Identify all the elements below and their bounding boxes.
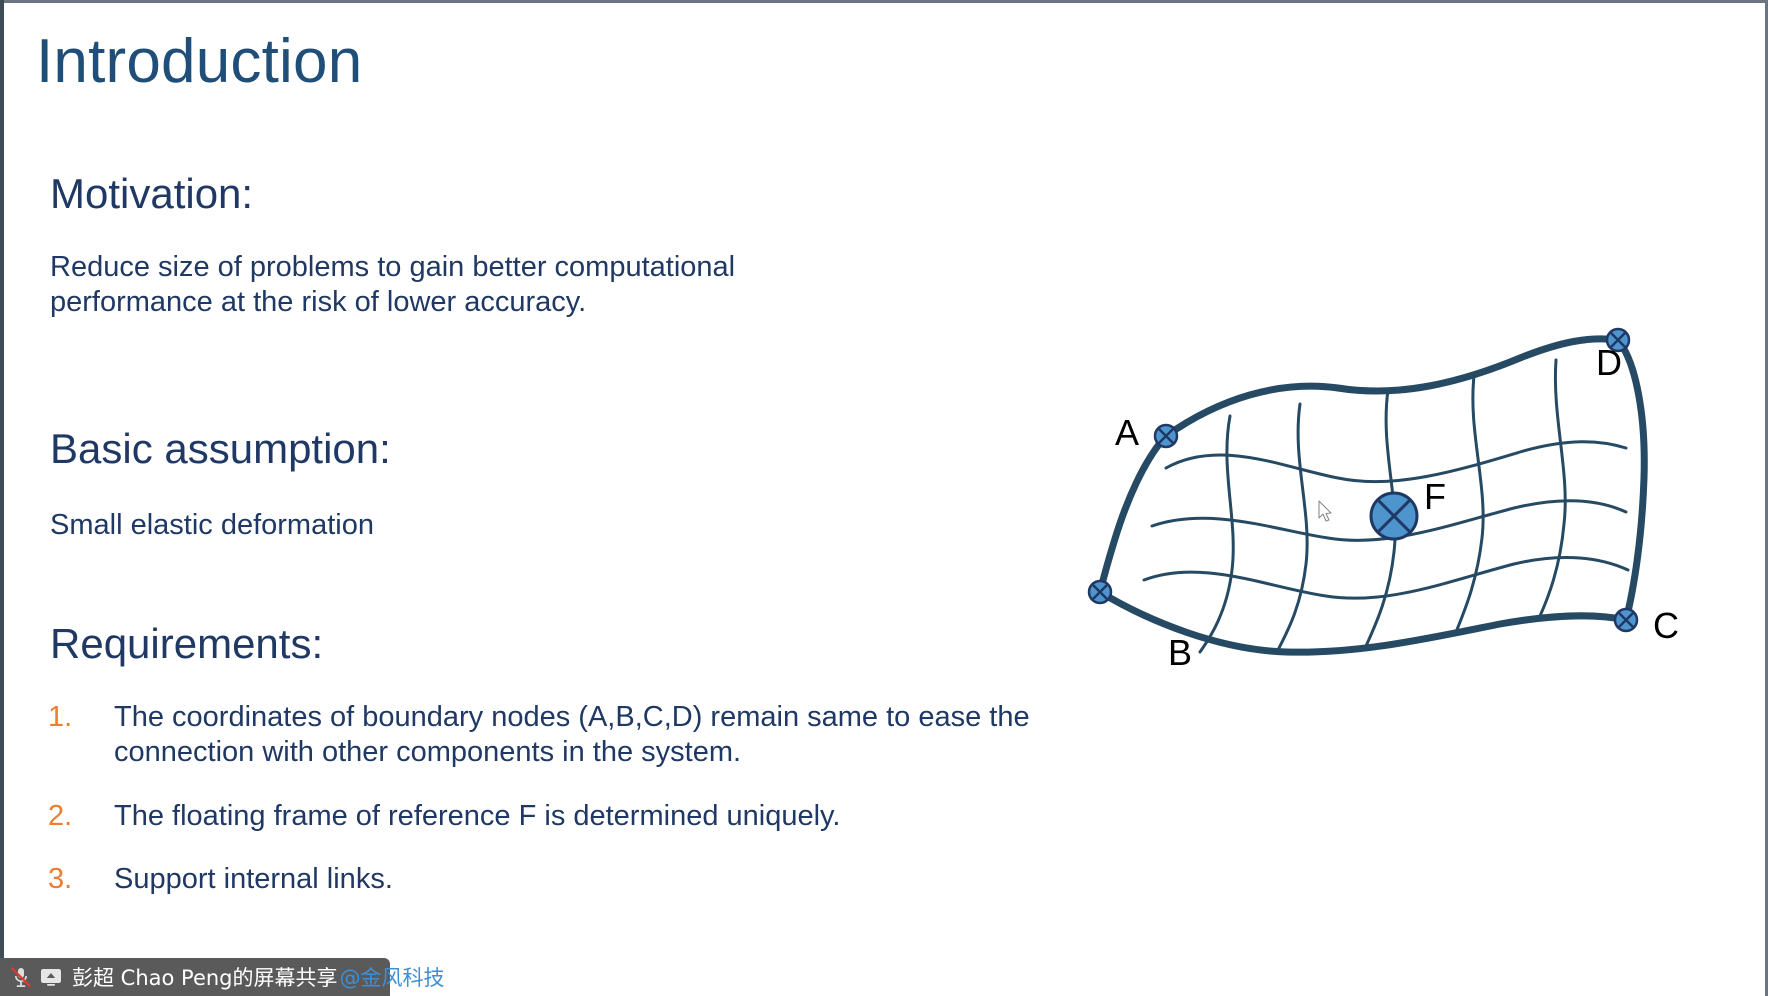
section-body-motivation: Reduce size of problems to gain better c… <box>50 250 880 321</box>
list-item: 2. The floating frame of reference F is … <box>48 799 1058 834</box>
page-title: Introduction <box>36 28 362 96</box>
section-heading-requirements: Requirements: <box>50 620 323 668</box>
list-item-text: Support internal links. <box>114 862 1058 897</box>
screen-share-statusbar: 彭超 Chao Peng的屏幕共享 @金风科技 <box>0 958 390 996</box>
node-label-b: B <box>1168 632 1192 674</box>
floating-frame-marker <box>1371 493 1417 539</box>
section-heading-basic-assumption: Basic assumption: <box>50 425 391 473</box>
list-item-text: The floating frame of reference F is det… <box>114 799 1058 834</box>
node-label-f: F <box>1424 476 1446 518</box>
watermark-label: @金风科技 <box>340 962 445 992</box>
presentation-slide: Introduction Motivation: Reduce size of … <box>0 0 1768 996</box>
list-item-number: 1. <box>48 700 114 735</box>
list-item-number: 2. <box>48 799 114 834</box>
node-label-c: C <box>1653 605 1679 647</box>
list-item-number: 3. <box>48 862 114 897</box>
screen-share-icon[interactable] <box>36 962 66 992</box>
list-item: 3. Support internal links. <box>48 862 1058 897</box>
section-heading-motivation: Motivation: <box>50 170 253 218</box>
screen-share-label: 彭超 Chao Peng的屏幕共享 <box>72 962 338 992</box>
node-label-a: A <box>1115 412 1139 454</box>
microphone-muted-icon[interactable] <box>6 962 36 992</box>
node-label-d: D <box>1596 342 1622 384</box>
list-item-text: The coordinates of boundary nodes (A,B,C… <box>114 700 1058 771</box>
section-body-basic-assumption: Small elastic deformation <box>50 508 374 543</box>
list-item: 1. The coordinates of boundary nodes (A,… <box>48 700 1058 771</box>
requirements-list: 1. The coordinates of boundary nodes (A,… <box>48 700 1058 926</box>
